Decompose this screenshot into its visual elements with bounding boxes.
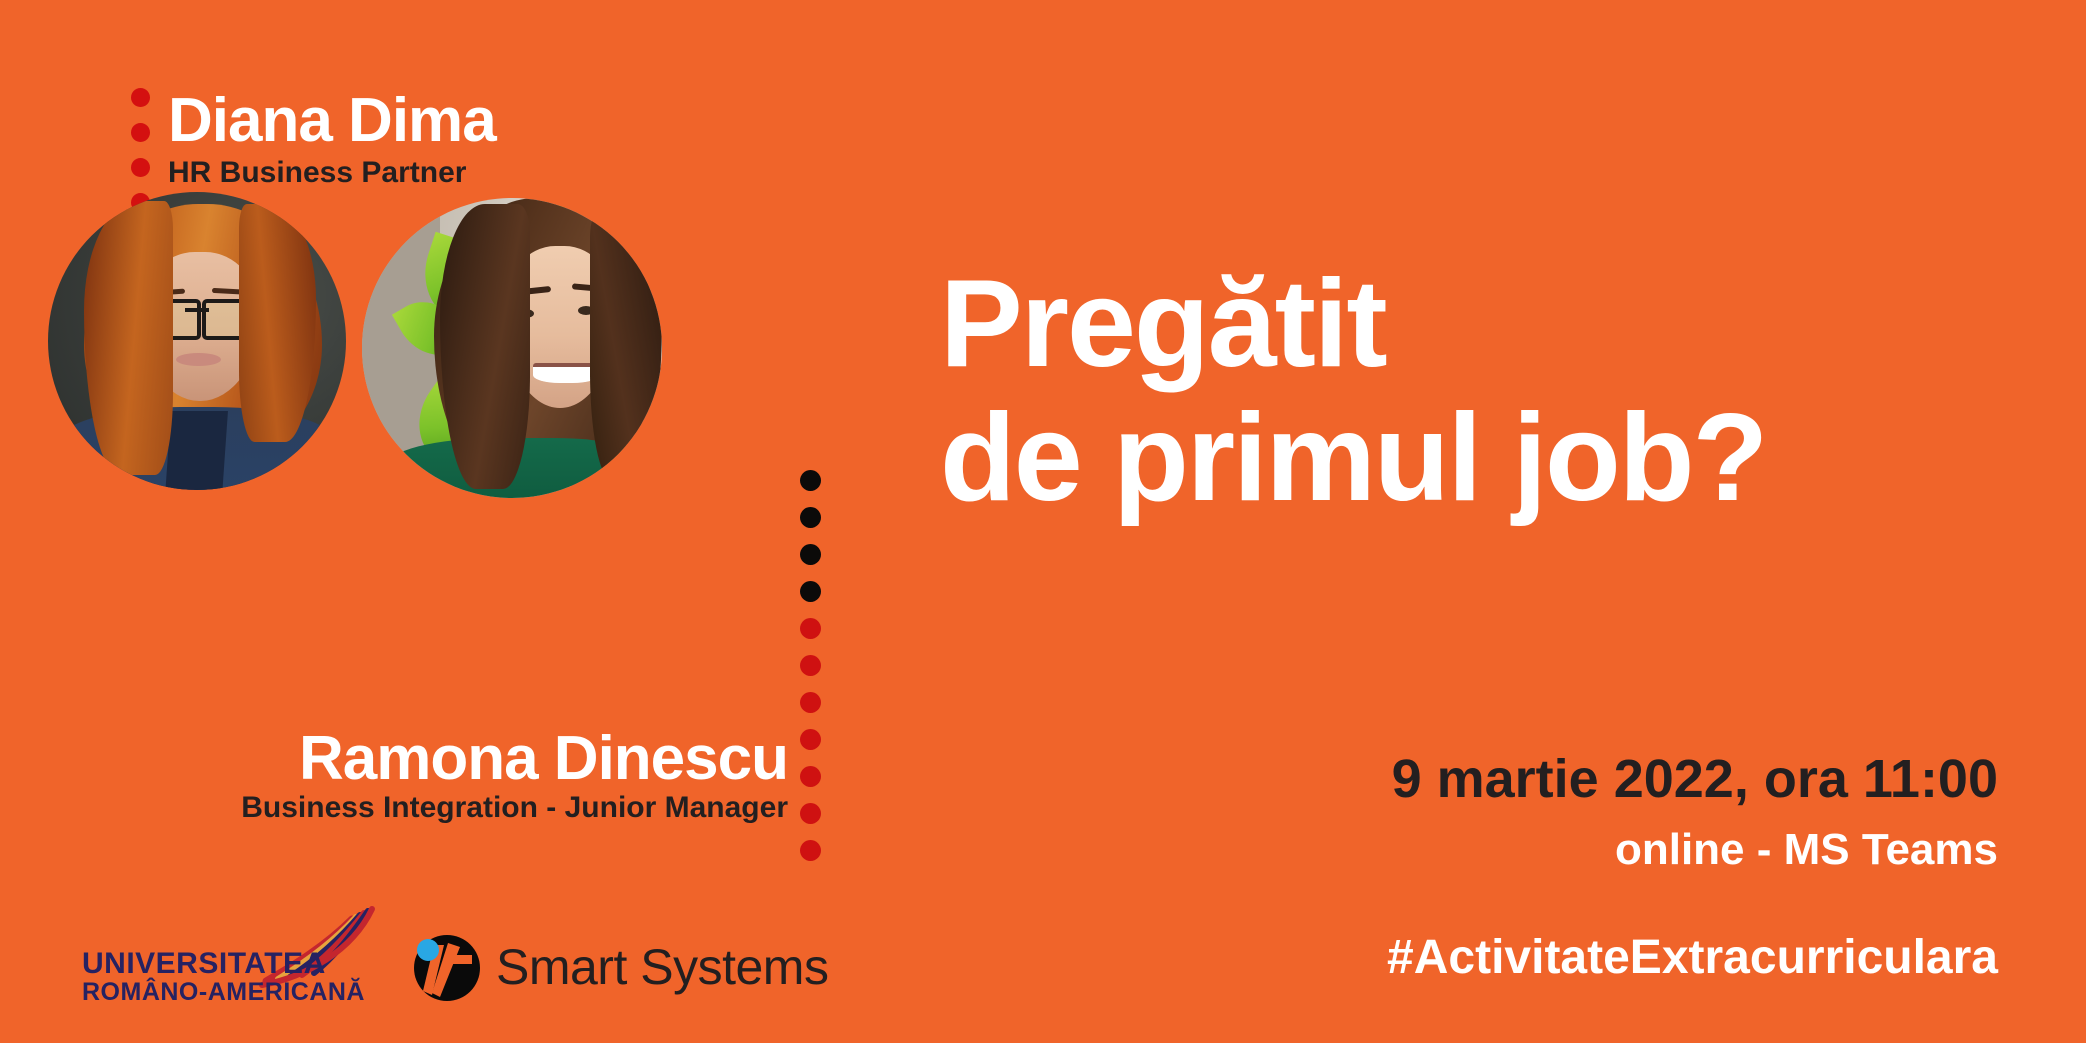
university-name-line-1: UNIVERSITATEA xyxy=(82,949,365,980)
dot xyxy=(131,123,150,142)
dot xyxy=(800,544,821,565)
decorative-dot-column-right xyxy=(800,470,821,861)
event-date: 9 martie 2022, ora 11:00 xyxy=(1392,752,1998,806)
dot xyxy=(800,655,821,676)
dot xyxy=(800,581,821,602)
speaker-name-1: Diana Dima xyxy=(168,90,496,152)
dot xyxy=(800,729,821,750)
speaker-name-2: Ramona Dinescu xyxy=(299,728,788,790)
dot xyxy=(131,88,150,107)
dot xyxy=(800,618,821,639)
dot xyxy=(800,803,821,824)
dot xyxy=(131,158,150,177)
speaker-role-2: Business Integration - Junior Manager xyxy=(241,793,788,823)
event-mode: online - MS Teams xyxy=(1615,828,1998,872)
speaker-photo-ramona xyxy=(362,198,662,498)
dot xyxy=(800,766,821,787)
speaker-photo-diana xyxy=(48,192,346,490)
headline-line-2: de primul job? xyxy=(940,392,2000,526)
dot xyxy=(800,470,821,491)
headline: Pregătit de primul job? xyxy=(940,258,2000,526)
speaker-role-1: HR Business Partner xyxy=(168,158,466,188)
headline-line-1: Pregătit xyxy=(940,255,1386,393)
university-name-line-2: ROMÂNO-AMERICANĂ xyxy=(82,980,365,1006)
logo-smart-systems: Smart Systems xyxy=(410,928,828,1006)
smart-systems-name: Smart Systems xyxy=(496,938,828,996)
logo-universitatea-romano-americana: UNIVERSITATEA ROMÂNO-AMERICANĂ xyxy=(82,925,382,1005)
dot xyxy=(800,692,821,713)
dot xyxy=(800,840,821,861)
poster-canvas: Diana Dima HR Business Partner Ramona Di… xyxy=(0,0,2086,1043)
smart-systems-mark-icon xyxy=(410,931,482,1003)
event-hashtag: #ActivitateExtracurriculara xyxy=(1387,934,1998,982)
dot xyxy=(800,507,821,528)
